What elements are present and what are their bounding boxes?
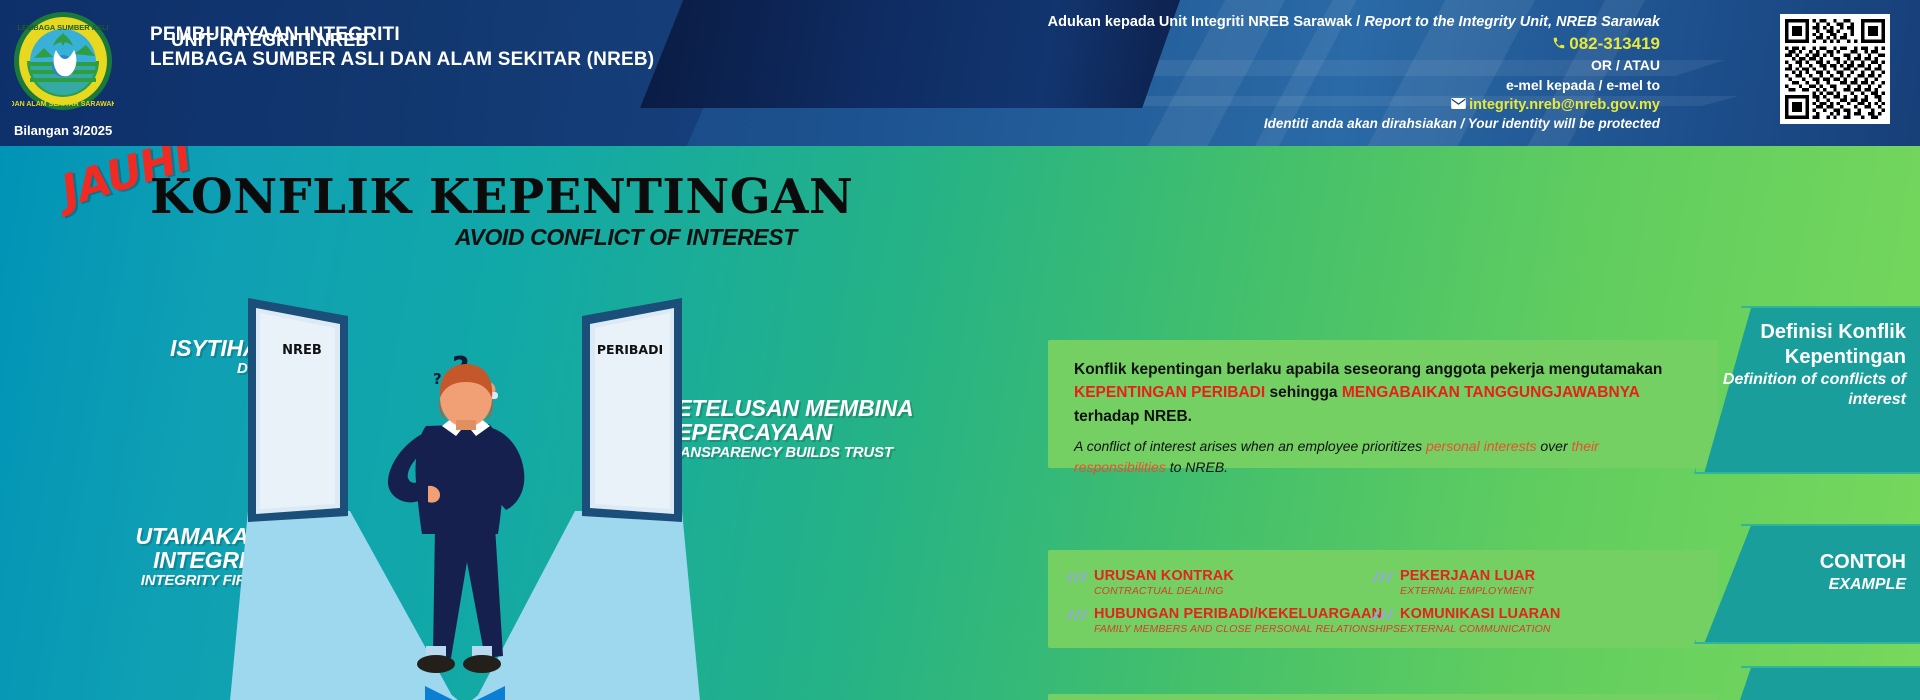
tab-contoh-en: EXAMPLE bbox=[1704, 575, 1906, 595]
tab-definisi-ms: Definisi Konflik Kepentingan bbox=[1704, 320, 1906, 370]
phone-line[interactable]: 082-313419 bbox=[940, 32, 1660, 56]
definition-panel: Konflik kepentingan berlaku apabila sese… bbox=[1048, 340, 1718, 468]
definition-ms-part2: sehingga bbox=[1265, 384, 1342, 401]
example-en: EXTERNAL EMPLOYMENT bbox=[1400, 585, 1535, 597]
report-ms: Adukan kepada Unit Integriti NREB Sarawa… bbox=[1048, 14, 1353, 30]
definition-ms: Konflik kepentingan berlaku apabila sese… bbox=[1074, 358, 1692, 428]
example-item: URUSAN KONTRAK CONTRACTUAL DEALING bbox=[1094, 568, 1234, 597]
quill-icon bbox=[1372, 608, 1394, 627]
poster-body: JAUHI KONFLIK KEPENTINGAN AVOID CONFLICT… bbox=[0, 146, 1920, 700]
example-ms: HUBUNGAN PERIBADI/KEKELUARGAAN bbox=[1094, 606, 1400, 622]
definition-ms-red1: KEPENTINGAN PERIBADI bbox=[1074, 384, 1265, 401]
action-panel: Laporkan sebarang kemungkinan konflik ke… bbox=[1048, 694, 1718, 700]
example-item: KOMUNIKASI LUARAN EXTERNAL COMMUNICATION bbox=[1400, 606, 1560, 635]
door-right bbox=[582, 298, 682, 522]
example-ms: KOMUNIKASI LUARAN bbox=[1400, 606, 1560, 622]
or-text: OR / ATAU bbox=[940, 56, 1660, 75]
infographic-poster: LEMBAGA SUMBER ASLI DAN ALAM SEKITAR SAR… bbox=[0, 0, 1920, 700]
envelope-icon bbox=[1451, 95, 1466, 115]
tab-contoh[interactable]: CONTOH EXAMPLE bbox=[1704, 524, 1920, 644]
definition-ms-part3: terhadap NREB. bbox=[1074, 408, 1192, 425]
hero-subtitle: AVOID CONFLICT OF INTEREST bbox=[455, 224, 797, 251]
tab-definisi[interactable]: Definisi Konflik Kepentingan Definition … bbox=[1704, 306, 1920, 474]
quill-icon bbox=[1066, 608, 1088, 627]
illustration-area: JAUHI KONFLIK KEPENTINGAN AVOID CONFLICT… bbox=[0, 146, 1030, 700]
example-en: FAMILY MEMBERS AND CLOSE PERSONAL RELATI… bbox=[1094, 623, 1400, 635]
example-item: PEKERJAAN LUAR EXTERNAL EMPLOYMENT bbox=[1400, 568, 1535, 597]
page-header: LEMBAGA SUMBER ASLI DAN ALAM SEKITAR SAR… bbox=[0, 0, 1920, 146]
definition-en-part2: over bbox=[1537, 438, 1572, 454]
report-separator: / bbox=[1356, 14, 1360, 30]
examples-grid: URUSAN KONTRAK CONTRACTUAL DEALING HUBUN… bbox=[1048, 550, 1718, 648]
contact-block: Adukan kepada Unit Integriti NREB Sarawa… bbox=[940, 12, 1660, 134]
identity-note: Identiti anda akan dirahsiakan / Your id… bbox=[940, 115, 1660, 134]
issue-number: Bilangan 3/2025 bbox=[14, 123, 112, 138]
example-ms: PEKERJAAN LUAR bbox=[1400, 568, 1535, 584]
svg-text:?: ? bbox=[433, 370, 442, 388]
tab-contoh-ms: CONTOH bbox=[1704, 550, 1906, 575]
svg-text:DAN ALAM SEKITAR SARAWAK: DAN ALAM SEKITAR SARAWAK bbox=[12, 101, 114, 108]
report-line: Adukan kepada Unit Integriti NREB Sarawa… bbox=[940, 12, 1660, 32]
hero-title: KONFLIK KEPENTINGAN bbox=[150, 169, 853, 225]
definition-en-part1: A conflict of interest arises when an em… bbox=[1074, 438, 1426, 454]
tab-definisi-en: Definition of conflicts of interest bbox=[1704, 370, 1906, 410]
definition-en-red1: personal interests bbox=[1426, 438, 1537, 454]
email-label: e-mel kepada / e-mel to bbox=[940, 76, 1660, 95]
phone-icon bbox=[1552, 33, 1566, 56]
quill-icon bbox=[1372, 570, 1394, 589]
example-en: CONTRACTUAL DEALING bbox=[1094, 585, 1234, 597]
definition-en-part3: to NREB. bbox=[1166, 459, 1228, 475]
door-left bbox=[248, 298, 348, 522]
door-left-label-text: NREB bbox=[282, 343, 322, 358]
definition-ms-part1: Konflik kepentingan berlaku apabila sese… bbox=[1074, 361, 1662, 378]
report-en: Report to the Integrity Unit, NREB Saraw… bbox=[1364, 14, 1660, 30]
nreb-logo-icon: LEMBAGA SUMBER ASLI DAN ALAM SEKITAR SAR… bbox=[12, 10, 114, 112]
example-en: EXTERNAL COMMUNICATION bbox=[1400, 623, 1560, 635]
doors-illustration: NREB PERIBADI ? ? ? bbox=[230, 286, 700, 700]
email-address: integrity.nreb@nreb.gov.my bbox=[1469, 97, 1660, 113]
phone-number: 082-313419 bbox=[1569, 34, 1660, 53]
email-line[interactable]: integrity.nreb@nreb.gov.my bbox=[940, 95, 1660, 115]
example-ms: URUSAN KONTRAK bbox=[1094, 568, 1234, 584]
qr-code-icon[interactable] bbox=[1780, 14, 1890, 124]
door-right-label-text: PERIBADI bbox=[597, 342, 663, 357]
example-item: HUBUNGAN PERIBADI/KEKELUARGAAN FAMILY ME… bbox=[1094, 606, 1400, 635]
unit-banner-title: UNIT INTEGRITI NREB bbox=[0, 30, 540, 51]
definition-ms-red2: MENGABAIKAN TANGGUNGJAWABNYA bbox=[1342, 384, 1639, 401]
definition-en: A conflict of interest arises when an em… bbox=[1074, 436, 1692, 478]
tab-tindakan[interactable]: Tindakan Action step bbox=[1704, 666, 1920, 700]
quill-icon bbox=[1066, 570, 1088, 589]
